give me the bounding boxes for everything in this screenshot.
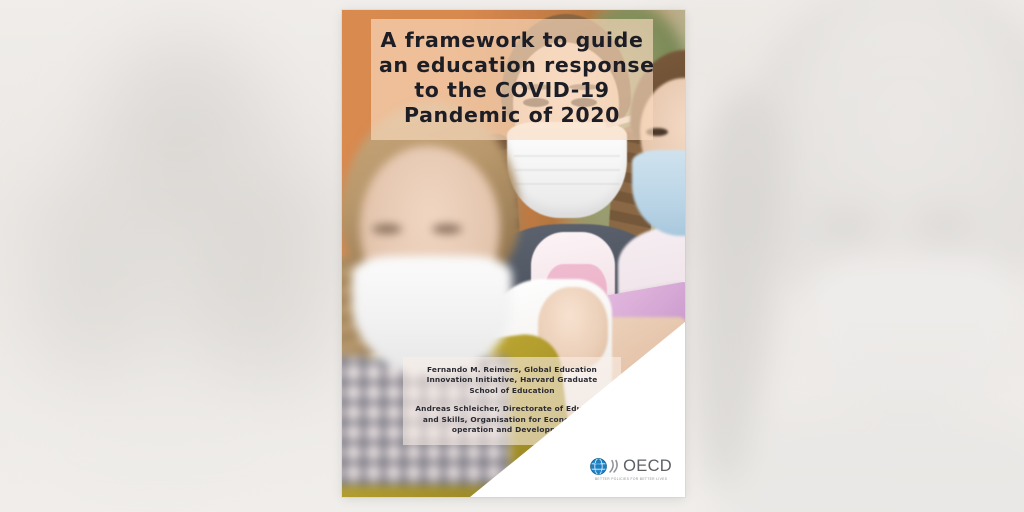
- oecd-logo[interactable]: OECD BETTER POLICIES FOR BETTER LIVES: [590, 458, 672, 481]
- title-line-2: an education response: [379, 53, 645, 78]
- title-line-4: Pandemic of 2020: [379, 103, 645, 128]
- cover-title-block: A framework to guide an education respon…: [371, 19, 653, 140]
- title-line-3: to the COVID-19: [379, 78, 645, 103]
- globe-icon: [590, 458, 607, 475]
- swoosh-icon: [609, 459, 620, 474]
- title-line-1: A framework to guide: [379, 28, 645, 53]
- oecd-tagline: BETTER POLICIES FOR BETTER LIVES: [595, 477, 667, 481]
- author-credit-1: Fernando M. Reimers, Global Education In…: [412, 365, 612, 396]
- cover-banner: A framework to guide an education respon…: [0, 0, 1024, 512]
- oecd-wordmark: OECD: [623, 458, 672, 475]
- publication-cover[interactable]: A framework to guide an education respon…: [342, 10, 685, 497]
